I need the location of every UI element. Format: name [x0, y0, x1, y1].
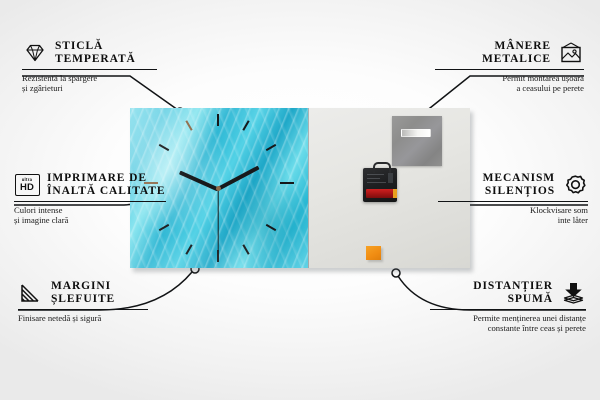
gear-icon [562, 173, 588, 197]
callout-subtitle: Rezistentă la spargere și zgârieturi [22, 73, 157, 94]
hatched-edge-icon [18, 281, 44, 305]
callout-polished-edges: MARGINI ȘLEFUITE Finisare netedă și sigu… [18, 280, 148, 323]
down-arrow-stack-icon [560, 281, 586, 305]
callout-rule [14, 201, 166, 202]
diamond-icon [22, 41, 48, 65]
callout-title: STICLĂ TEMPERATĂ [55, 40, 136, 66]
mechanism-detail [367, 178, 380, 179]
callout-title: MARGINI ȘLEFUITE [51, 280, 115, 306]
hanger-loop-icon [373, 162, 391, 173]
infographic-canvas: STICLĂ TEMPERATĂ Rezistentă la spargere … [0, 0, 600, 400]
callout-rule [22, 69, 157, 70]
battery-terminal [393, 189, 397, 198]
callout-subtitle: Permit montarea ușoară a ceasului pe per… [435, 73, 584, 94]
hand-center-cap [216, 186, 221, 191]
panel-divider [308, 108, 309, 268]
callout-title: MECANISM SILENȚIOS [483, 172, 555, 198]
callout-title: MÂNERE METALICE [482, 40, 551, 66]
mechanism-detail [367, 182, 386, 183]
picture-frame-icon [558, 41, 584, 65]
callout-rule [18, 309, 148, 310]
callout-rule [438, 201, 588, 202]
callout-subtitle: Permite menținerea unei distanțe constan… [430, 313, 586, 334]
callout-subtitle: Finisare netedă și sigură [18, 313, 148, 323]
callout-silent-mechanism: MECANISM SILENȚIOS Klockvisare som inte … [438, 172, 588, 226]
callout-rule [435, 69, 584, 70]
metal-hanger-plate [392, 116, 442, 166]
callout-tempered-glass: STICLĂ TEMPERATĂ Rezistentă la spargere … [22, 40, 157, 94]
callout-subtitle: Culori intense și imagine clară [14, 205, 166, 226]
mechanism-detail [367, 174, 384, 175]
callout-title: DISTANȚIER SPUMĂ [473, 280, 553, 306]
callout-subtitle: Klockvisare som inte låter [438, 205, 588, 226]
product-image [130, 108, 470, 268]
ultra-hd-icon-main-label: HD [20, 183, 34, 193]
callout-foam-spacer: DISTANȚIER SPUMĂ Permite menținerea unei… [430, 280, 586, 334]
mechanism-detail [388, 173, 393, 183]
battery [366, 189, 394, 198]
callout-title: IMPRIMARE DE ÎNALTĂ CALITATE [47, 172, 165, 198]
callout-hd-print: ultra HD IMPRIMARE DE ÎNALTĂ CALITATE Cu… [14, 172, 166, 226]
callout-rule [430, 309, 586, 310]
ultra-hd-icon: ultra HD [14, 173, 40, 197]
foam-spacer [366, 246, 381, 260]
clock-mechanism [363, 168, 397, 202]
callout-metal-handles: MÂNERE METALICE Permit montarea ușoară a… [435, 40, 584, 94]
